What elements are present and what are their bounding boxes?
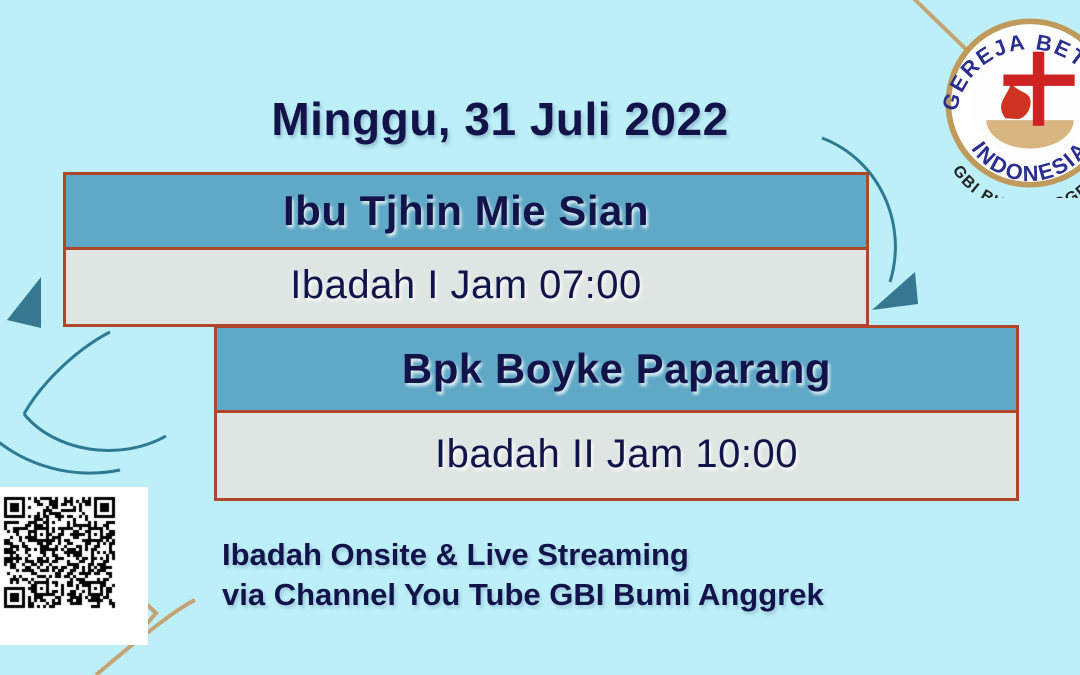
left-arrow-curve-tail <box>24 414 166 450</box>
service-2-body: Ibadah II Jam 10:00 <box>217 413 1016 495</box>
left-arrow-curve <box>24 332 110 414</box>
qr-code[interactable] <box>0 487 148 645</box>
right-arrow-head <box>872 272 918 310</box>
service-1-body: Ibadah I Jam 07:00 <box>66 250 866 321</box>
service-1-speaker-bar: Ibu Tjhin Mie Sian <box>66 175 866 250</box>
service-2-speaker-name: Bpk Boyke Paparang <box>402 345 831 393</box>
service-2-schedule: Ibadah II Jam 10:00 <box>435 432 798 477</box>
page-title: Minggu, 31 Juli 2022 <box>0 92 1000 146</box>
service-card-2: Bpk Boyke Paparang Ibadah II Jam 10:00 <box>214 325 1019 501</box>
footer-line-1: Ibadah Onsite & Live Streaming <box>222 535 824 575</box>
logo-cross-horizontal <box>1003 75 1074 86</box>
service-1-speaker-name: Ibu Tjhin Mie Sian <box>283 187 649 235</box>
teal-arc-left <box>0 330 120 473</box>
footer-note: Ibadah Onsite & Live Streaming via Chann… <box>222 535 824 614</box>
service-card-1: Ibu Tjhin Mie Sian Ibadah I Jam 07:00 <box>63 172 869 327</box>
logo-cross-vertical <box>1033 52 1044 126</box>
qr-code-canvas <box>0 487 148 645</box>
service-2-speaker-bar: Bpk Boyke Paparang <box>217 328 1016 413</box>
gbi-logo: GEREJA BETHEL INDONESIA GBI BUMI ANGGREK <box>935 8 1080 198</box>
poster-canvas: Minggu, 31 Juli 2022 Ibu Tjhin Mie Sian … <box>0 0 1080 675</box>
left-arrow-head <box>7 277 41 328</box>
service-1-schedule: Ibadah I Jam 07:00 <box>290 263 641 308</box>
footer-line-2: via Channel You Tube GBI Bumi Anggrek <box>222 575 824 615</box>
